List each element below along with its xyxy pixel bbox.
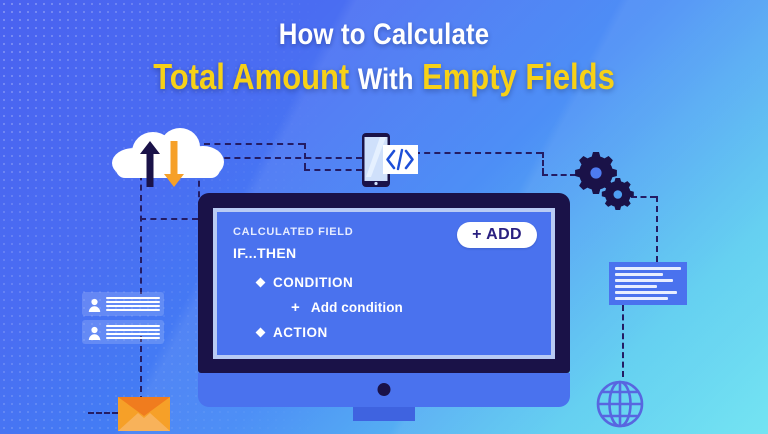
monitor-inner-frame: CALCULATED FIELD IF...THEN + ADD CONDITI… bbox=[213, 208, 555, 359]
condition-row[interactable]: CONDITION bbox=[257, 275, 535, 290]
infographic-canvas: How to Calculate Total Amount With Empty… bbox=[0, 0, 768, 434]
document-card-icon bbox=[609, 262, 687, 305]
user-card-text-lines bbox=[106, 297, 160, 311]
add-condition-label: Add condition bbox=[311, 300, 403, 315]
monitor-power-button[interactable] bbox=[378, 383, 391, 396]
connector-left-mid bbox=[140, 218, 198, 220]
title-line-2: Total Amount With Empty Fields bbox=[54, 56, 714, 98]
connector-envelope-left bbox=[88, 412, 118, 414]
connector-doc-to-globe bbox=[622, 305, 624, 377]
title-connector-with: With bbox=[358, 63, 414, 96]
title-line-1: How to Calculate bbox=[54, 18, 714, 53]
action-label: ACTION bbox=[273, 325, 328, 340]
monitor-stand-neck bbox=[353, 407, 415, 421]
arrow-down-icon bbox=[164, 141, 184, 192]
globe-icon bbox=[592, 376, 648, 434]
envelope-icon bbox=[118, 397, 170, 431]
plus-icon: + bbox=[291, 300, 300, 315]
connector-rise-1 bbox=[542, 152, 544, 174]
monitor-chin bbox=[198, 373, 570, 407]
connector-phone-left bbox=[304, 169, 362, 171]
user-card-text-lines bbox=[106, 325, 160, 339]
connector-to-gear bbox=[542, 174, 576, 176]
diamond-bullet-icon bbox=[256, 278, 266, 288]
avatar-icon bbox=[87, 325, 102, 340]
desktop-monitor-icon: CALCULATED FIELD IF...THEN + ADD CONDITI… bbox=[198, 193, 570, 421]
avatar-icon bbox=[87, 297, 102, 312]
connector-phone-to-gear-top bbox=[414, 152, 542, 154]
gears-group bbox=[572, 152, 634, 215]
monitor-screen: CALCULATED FIELD IF...THEN + ADD CONDITI… bbox=[217, 212, 551, 355]
title-highlight-empty-fields: Empty Fields bbox=[422, 56, 615, 97]
user-contact-card-2[interactable] bbox=[82, 320, 164, 344]
diamond-bullet-icon bbox=[256, 328, 266, 338]
smartphone-icon bbox=[362, 133, 418, 192]
connector-gear-to-doc bbox=[656, 196, 658, 262]
connector-drop-1 bbox=[304, 143, 306, 169]
arrow-up-icon bbox=[140, 141, 160, 192]
connector-cloud-to-phone-mid bbox=[204, 157, 362, 159]
title-highlight-total-amount: Total Amount bbox=[153, 56, 349, 97]
page-title: How to Calculate Total Amount With Empty… bbox=[0, 18, 768, 97]
condition-label: CONDITION bbox=[273, 275, 353, 290]
gear-icon bbox=[602, 178, 634, 210]
add-condition-row[interactable]: + Add condition bbox=[291, 300, 535, 315]
user-contact-card-1[interactable] bbox=[82, 292, 164, 316]
add-button[interactable]: + ADD bbox=[457, 222, 537, 248]
action-row[interactable]: ACTION bbox=[257, 325, 535, 340]
monitor-bezel: CALCULATED FIELD IF...THEN + ADD CONDITI… bbox=[198, 193, 570, 373]
code-brackets-icon bbox=[383, 145, 418, 174]
